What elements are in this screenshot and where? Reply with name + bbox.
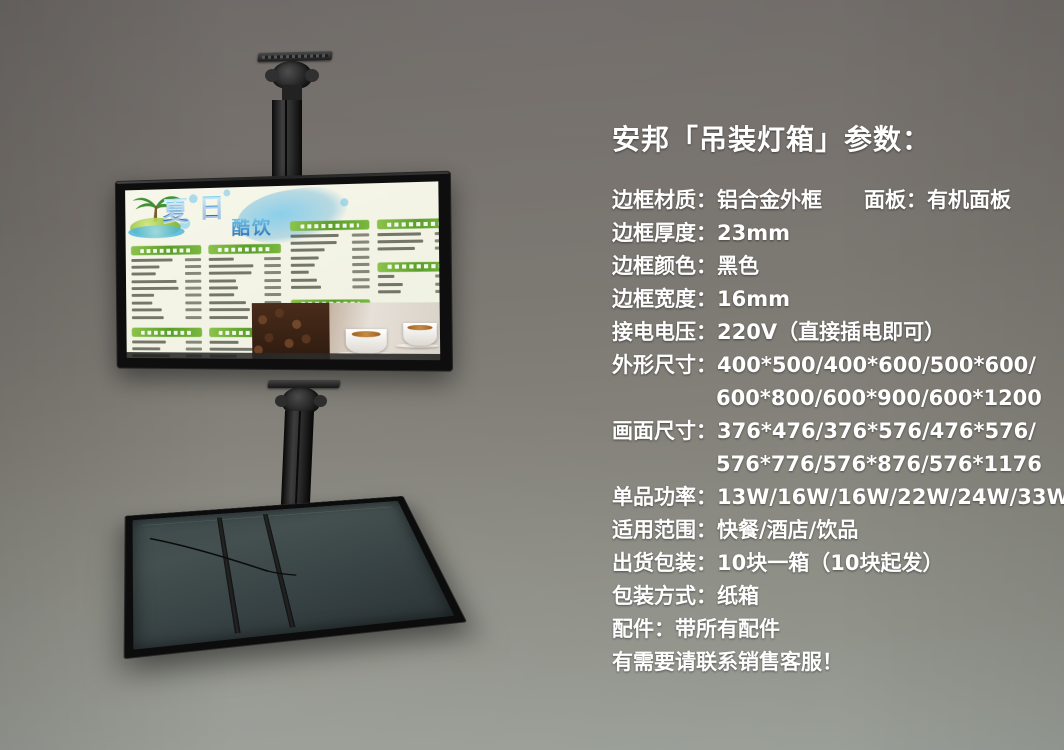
menu-row bbox=[132, 346, 202, 352]
menu-row bbox=[132, 307, 202, 313]
menu-row bbox=[209, 292, 281, 298]
menu-section-header bbox=[132, 328, 202, 337]
spec-line-frame-material: 边框材质：铝合金外框 面板：有机面板 bbox=[612, 184, 1042, 217]
headline-char-2: 日 bbox=[199, 195, 226, 222]
menu-row bbox=[209, 262, 281, 269]
menu-row bbox=[132, 339, 202, 345]
spec-line-packing-method: 包装方式：纸箱 bbox=[612, 580, 1042, 613]
menu-section-header bbox=[209, 244, 281, 254]
menu-row bbox=[132, 285, 202, 291]
headline-char-3: 酷 bbox=[231, 219, 251, 238]
menu-row bbox=[209, 270, 281, 277]
spec-line-frame-thickness: 边框厚度：23mm bbox=[612, 217, 1042, 250]
spec-line-shipping-pack: 出货包装：10块一箱（10块起发） bbox=[612, 547, 1042, 580]
page-title: 安邦「吊装灯箱」参数： bbox=[612, 118, 1042, 158]
menu-row bbox=[291, 261, 370, 268]
menu-row bbox=[377, 237, 440, 244]
menu-section-header bbox=[131, 245, 201, 255]
menu-row bbox=[291, 269, 370, 276]
headline-char-1: 夏 bbox=[163, 198, 190, 225]
menu-row bbox=[291, 239, 370, 246]
menu-row bbox=[378, 245, 441, 252]
spec-line-voltage: 接电电压：220V（直接插电即可） bbox=[612, 316, 1042, 349]
specifications-panel: 安邦「吊装灯箱」参数： 边框材质：铝合金外框 面板：有机面板边框厚度：23mm边… bbox=[612, 118, 1042, 679]
coffee-cup-icon bbox=[403, 323, 437, 346]
headline-char-4: 饮 bbox=[252, 218, 272, 237]
coffee-beans-image bbox=[252, 303, 330, 360]
menu-row bbox=[291, 276, 370, 283]
menu-poster: 夏 日 酷 饮 bbox=[125, 181, 440, 360]
menu-row bbox=[132, 292, 202, 298]
spec-line-application: 适用范围：快餐/酒店/饮品 bbox=[612, 514, 1042, 547]
poster-footer-band bbox=[127, 352, 441, 360]
lightbox-back-panel bbox=[133, 501, 455, 650]
menu-section-header bbox=[378, 262, 441, 272]
menu-row bbox=[132, 314, 202, 320]
panel-rib bbox=[217, 517, 241, 633]
coffee-photo-inset bbox=[252, 302, 440, 360]
spec-line-contact: 有需要请联系销售客服！ bbox=[612, 646, 1042, 679]
menu-row bbox=[209, 255, 281, 262]
menu-row bbox=[377, 230, 440, 238]
menu-section-header bbox=[377, 218, 440, 229]
hanging-lightbox-front: 夏 日 酷 饮 bbox=[115, 171, 453, 372]
spec-line-picture-size: 画面尺寸：376*476/376*576/476*576/ bbox=[612, 415, 1042, 448]
menu-row bbox=[131, 256, 201, 263]
menu-row bbox=[209, 277, 281, 284]
product-illustration: 夏 日 酷 饮 bbox=[0, 0, 600, 750]
menu-row bbox=[378, 288, 440, 295]
menu-row bbox=[131, 271, 201, 278]
spec-line-picture-size-cont: 576*776/576*876/576*1176 bbox=[612, 448, 1042, 481]
menu-row bbox=[132, 278, 202, 284]
spec-line-outer-size: 外形尺寸：400*500/400*600/500*600/ bbox=[612, 349, 1042, 382]
hanging-lightbox-back bbox=[124, 496, 468, 659]
product-photo-page: 夏 日 酷 饮 bbox=[0, 0, 1064, 750]
lightbox-aluminum-frame: 夏 日 酷 饮 bbox=[115, 171, 453, 372]
spec-line-power: 单品功率：13W/16W/16W/22W/24W/33W bbox=[612, 481, 1042, 514]
menu-row bbox=[290, 231, 369, 239]
menu-column-1 bbox=[131, 245, 202, 360]
menu-row bbox=[132, 300, 202, 306]
menu-row bbox=[378, 273, 440, 280]
menu-row bbox=[291, 284, 370, 291]
menu-row bbox=[291, 246, 370, 253]
coffee-cup-icon bbox=[346, 329, 387, 354]
menu-row bbox=[131, 263, 201, 270]
spec-line-outer-size-cont: 600*800/600*900/600*1200 bbox=[612, 382, 1042, 415]
spec-line-list: 边框材质：铝合金外框 面板：有机面板边框厚度：23mm边框颜色：黑色边框宽度：1… bbox=[612, 184, 1042, 679]
menu-row bbox=[209, 285, 281, 292]
spec-line-frame-width: 边框宽度：16mm bbox=[612, 283, 1042, 316]
menu-section-header bbox=[290, 220, 369, 231]
spec-line-frame-color: 边框颜色：黑色 bbox=[612, 250, 1042, 283]
spec-line-accessories: 配件：带所有配件 bbox=[612, 613, 1042, 646]
lightbox-back-frame bbox=[124, 496, 468, 659]
panel-rib bbox=[263, 514, 296, 628]
menu-row bbox=[291, 254, 370, 261]
menu-row bbox=[378, 281, 440, 288]
